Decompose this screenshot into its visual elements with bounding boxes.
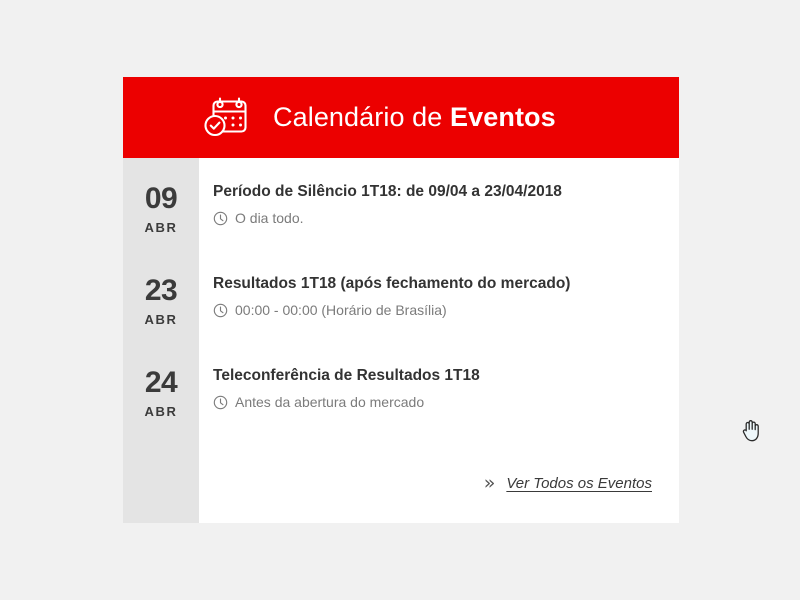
event-content: Período de Silêncio 1T18: de 09/04 a 23/… <box>199 158 562 226</box>
event-month: ABR <box>123 405 199 418</box>
event-day: 23 <box>123 276 199 306</box>
clock-icon <box>213 395 228 410</box>
event-date: 23 ABR <box>123 250 199 326</box>
event-month: ABR <box>123 313 199 326</box>
calendar-check-icon <box>201 95 251 141</box>
list-item[interactable]: 09 ABR Período de Silêncio 1T18: de 09/0… <box>199 158 679 250</box>
header-title-bold: Eventos <box>450 102 556 132</box>
clock-icon <box>213 211 228 226</box>
pointing-hand-cursor <box>740 418 762 444</box>
card-header: Calendário de Eventos <box>123 77 679 158</box>
event-meta: O dia todo. <box>213 211 562 226</box>
event-month: ABR <box>123 221 199 234</box>
view-all-events-link[interactable]: » Ver Todos os Eventos <box>484 474 652 493</box>
event-meta-label: 00:00 - 00:00 (Horário de Brasília) <box>235 303 447 317</box>
event-day: 09 <box>123 184 199 214</box>
clock-icon <box>213 303 228 318</box>
event-meta: 00:00 - 00:00 (Horário de Brasília) <box>213 303 570 318</box>
events-list: 09 ABR Período de Silêncio 1T18: de 09/0… <box>199 158 679 523</box>
event-meta: Antes da abertura do mercado <box>213 395 480 410</box>
list-item[interactable]: 24 ABR Teleconferência de Resultados 1T1… <box>199 342 679 434</box>
event-date: 24 ABR <box>123 342 199 418</box>
view-all-events-label[interactable]: Ver Todos os Eventos <box>506 475 652 492</box>
event-title[interactable]: Resultados 1T18 (após fechamento do merc… <box>213 275 570 294</box>
card-body: 09 ABR Período de Silêncio 1T18: de 09/0… <box>123 158 679 523</box>
events-calendar-card: Calendário de Eventos 09 ABR Período de … <box>123 77 679 523</box>
event-date: 09 ABR <box>123 158 199 234</box>
event-title[interactable]: Período de Silêncio 1T18: de 09/04 a 23/… <box>213 183 562 202</box>
page-title: Calendário de Eventos <box>273 104 556 131</box>
event-meta-label: Antes da abertura do mercado <box>235 395 424 409</box>
event-day: 24 <box>123 368 199 398</box>
double-chevron-right-icon: » <box>484 474 496 493</box>
list-item[interactable]: 23 ABR Resultados 1T18 (após fechamento … <box>199 250 679 342</box>
event-content: Teleconferência de Resultados 1T18 Antes… <box>199 342 480 410</box>
header-title-light: Calendário de <box>273 102 450 132</box>
event-title[interactable]: Teleconferência de Resultados 1T18 <box>213 367 480 386</box>
event-content: Resultados 1T18 (após fechamento do merc… <box>199 250 570 318</box>
event-meta-label: O dia todo. <box>235 211 304 225</box>
